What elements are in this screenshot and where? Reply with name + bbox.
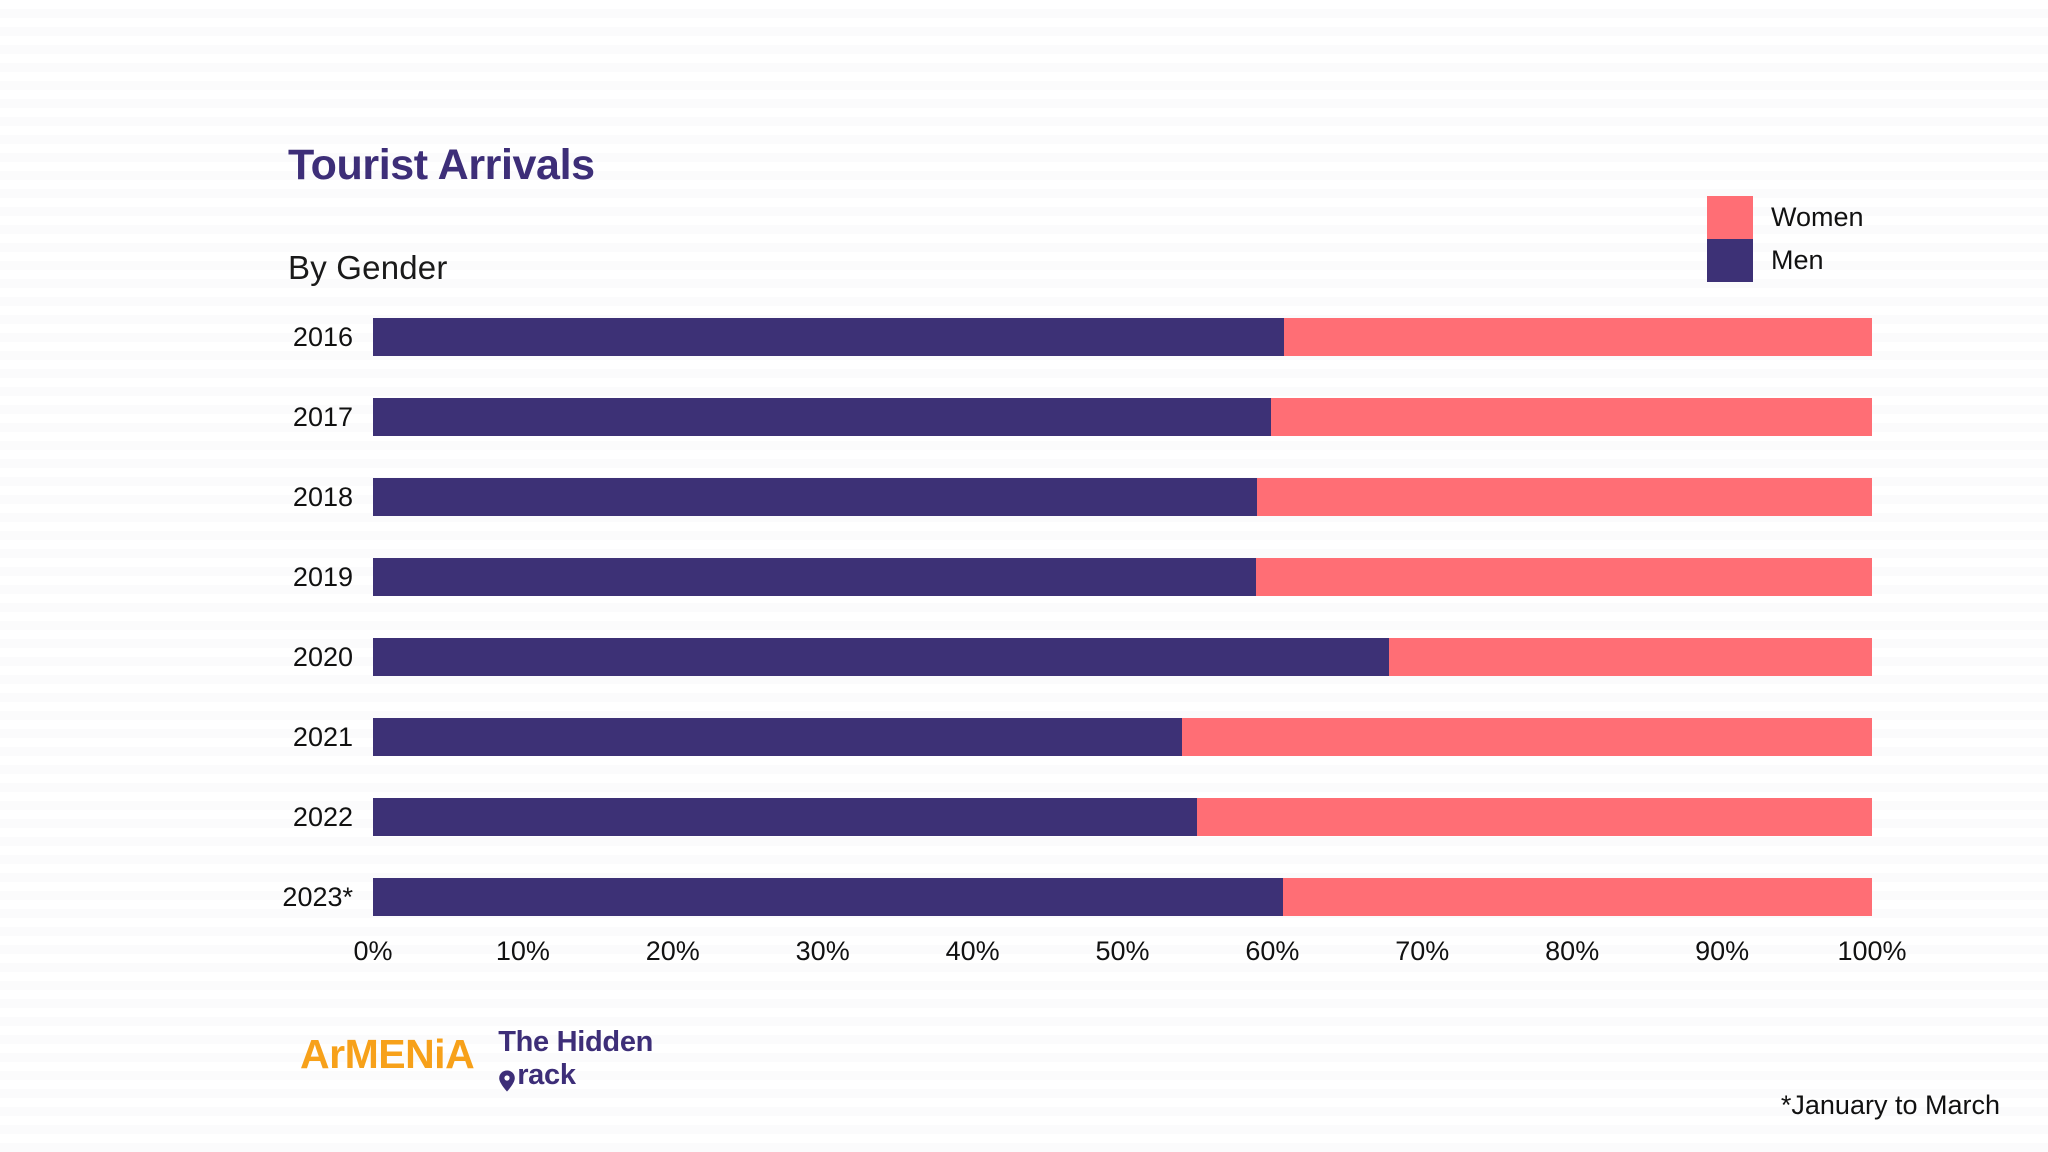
bar-segment-women[interactable] bbox=[1389, 638, 1872, 676]
bar-segment-men[interactable] bbox=[373, 798, 1197, 836]
y-axis-tick-label: 2019 bbox=[233, 564, 353, 591]
y-axis-tick-label: 2018 bbox=[233, 484, 353, 511]
bar-row[interactable] bbox=[373, 318, 1872, 356]
bar-segment-men[interactable] bbox=[373, 878, 1283, 916]
bar-segment-men[interactable] bbox=[373, 478, 1257, 516]
bar-segment-women[interactable] bbox=[1182, 718, 1872, 756]
bar-row[interactable] bbox=[373, 878, 1872, 916]
x-axis-tick-label: 40% bbox=[946, 938, 1000, 965]
bar-segment-men[interactable] bbox=[373, 398, 1271, 436]
bar-segment-men[interactable] bbox=[373, 558, 1256, 596]
brand-logo: ArMENiA The Hidden rack bbox=[300, 1026, 653, 1093]
legend-swatch-women bbox=[1707, 196, 1753, 239]
bar-segment-men[interactable] bbox=[373, 318, 1284, 356]
y-axis-tick-label: 2021 bbox=[233, 724, 353, 751]
bar-segment-women[interactable] bbox=[1284, 318, 1872, 356]
bar-row[interactable] bbox=[373, 398, 1872, 436]
x-axis-tick-label: 90% bbox=[1695, 938, 1749, 965]
logo-hidden-track-line1: The Hidden bbox=[498, 1026, 653, 1059]
bar-segment-women[interactable] bbox=[1257, 478, 1872, 516]
x-axis-tick-label: 10% bbox=[496, 938, 550, 965]
x-axis-tick-label: 30% bbox=[796, 938, 850, 965]
bar-row[interactable] bbox=[373, 798, 1872, 836]
chart-legend: WomenMen bbox=[1707, 196, 1864, 282]
x-axis-tick-label: 0% bbox=[353, 938, 392, 965]
chart-footnote: *January to March bbox=[1781, 1092, 2000, 1119]
logo-hidden-track-line2: rack bbox=[517, 1059, 575, 1092]
logo-hidden-track-line2-wrap: rack bbox=[498, 1059, 653, 1092]
bar-segment-women[interactable] bbox=[1256, 558, 1872, 596]
y-axis-tick-label: 2022 bbox=[233, 804, 353, 831]
bar-row[interactable] bbox=[373, 718, 1872, 756]
bar-segment-men[interactable] bbox=[373, 638, 1389, 676]
x-axis-tick-label: 80% bbox=[1545, 938, 1599, 965]
logo-hidden-track: The Hidden rack bbox=[498, 1026, 653, 1093]
x-axis-tick-label: 50% bbox=[1095, 938, 1149, 965]
plot-area bbox=[373, 318, 1872, 918]
y-axis-tick-label: 2016 bbox=[233, 324, 353, 351]
bar-row[interactable] bbox=[373, 558, 1872, 596]
x-axis-tick-label: 100% bbox=[1837, 938, 1906, 965]
y-axis-tick-label: 2020 bbox=[233, 644, 353, 671]
bar-row[interactable] bbox=[373, 478, 1872, 516]
bar-segment-men[interactable] bbox=[373, 718, 1182, 756]
bar-row[interactable] bbox=[373, 638, 1872, 676]
x-axis-tick-label: 70% bbox=[1395, 938, 1449, 965]
legend-item[interactable]: Men bbox=[1707, 239, 1864, 282]
legend-item-label: Men bbox=[1771, 247, 1824, 274]
bar-segment-women[interactable] bbox=[1197, 798, 1872, 836]
bar-segment-women[interactable] bbox=[1283, 878, 1872, 916]
x-axis-tick-label: 20% bbox=[646, 938, 700, 965]
logo-armenia-text: ArMENiA bbox=[300, 1026, 474, 1075]
x-axis-tick-label: 60% bbox=[1245, 938, 1299, 965]
y-axis-tick-label: 2023* bbox=[233, 884, 353, 911]
legend-item-label: Women bbox=[1771, 204, 1864, 231]
y-axis-tick-label: 2017 bbox=[233, 404, 353, 431]
legend-item[interactable]: Women bbox=[1707, 196, 1864, 239]
chart-subtitle: By Gender bbox=[288, 249, 448, 287]
legend-swatch-men bbox=[1707, 239, 1753, 282]
location-pin-icon bbox=[498, 1067, 516, 1089]
chart-canvas: Tourist Arrivals By Gender WomenMen ArME… bbox=[0, 0, 2048, 1152]
bar-segment-women[interactable] bbox=[1271, 398, 1872, 436]
page-title: Tourist Arrivals bbox=[288, 141, 595, 190]
